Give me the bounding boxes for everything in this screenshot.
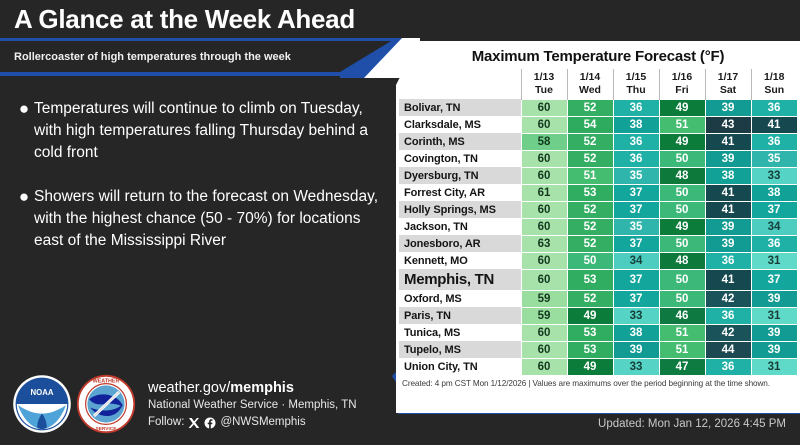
temperature-cell: 37 [613,269,659,290]
temperature-cell: 35 [751,150,797,167]
temperature-cell: 51 [659,116,705,133]
temperature-cell: 34 [613,252,659,269]
city-name: Holly Springs, MS [399,201,521,218]
column-day: Fri [660,84,705,99]
temperature-cell: 60 [521,116,567,133]
temperature-cell: 36 [751,99,797,116]
svg-text:NOAA: NOAA [31,388,54,397]
table-row: Corinth, MS585236494136 [399,133,797,150]
branding-block: NOAA WEATHER SERVICE weather.gov/memphis… [12,374,357,434]
temperature-cell: 31 [751,307,797,324]
temperature-cell: 33 [613,307,659,324]
temperature-cell: 59 [521,290,567,307]
city-column-header [399,69,521,99]
temperature-cell: 38 [613,116,659,133]
svg-text:WEATHER: WEATHER [93,378,120,384]
temperature-cell: 60 [521,150,567,167]
column-date: 1/16 [660,70,705,84]
temperature-cell: 50 [659,201,705,218]
temperature-cell: 60 [521,252,567,269]
temperature-cell: 61 [521,184,567,201]
city-name: Dyersburg, TN [399,167,521,184]
temperature-cell: 60 [521,218,567,235]
column-date: 1/15 [614,70,659,84]
temperature-cell: 63 [521,235,567,252]
list-item: ● Showers will return to the forecast on… [14,186,389,252]
city-name: Jackson, TN [399,218,521,235]
temperature-cell: 51 [659,324,705,341]
temperature-cell: 33 [751,167,797,184]
temperature-cell: 47 [659,358,705,375]
table-row: Holly Springs, MS605237504137 [399,201,797,218]
temperature-cell: 49 [567,307,613,324]
city-name: Bolivar, TN [399,99,521,116]
table-row: Covington, TN605236503935 [399,150,797,167]
column-date: 1/17 [706,70,751,84]
column-header-sat: 1/17Sat [705,69,751,99]
table-row: Kennett, MO605034483631 [399,252,797,269]
temperature-cell: 36 [613,150,659,167]
column-header-sun: 1/18Sun [751,69,797,99]
temperature-cell: 36 [705,307,751,324]
temperature-cell: 53 [567,269,613,290]
city-name: Memphis, TN [399,269,521,290]
updated-timestamp: Updated: Mon Jan 12, 2026 4:45 PM [598,418,786,430]
table-header-row: 1/13Tue1/14Wed1/15Thu1/16Fri1/17Sat1/18S… [399,69,797,99]
temperature-cell: 53 [567,324,613,341]
bullet-text: Showers will return to the forecast on W… [34,186,389,252]
temperature-cell: 37 [613,184,659,201]
temperature-cell: 48 [659,167,705,184]
temperature-cell: 43 [705,116,751,133]
table-row: Jackson, TN605235493934 [399,218,797,235]
city-name: Clarksdale, MS [399,116,521,133]
temperature-cell: 41 [705,269,751,290]
table-row: Tupelo, MS605339514439 [399,341,797,358]
bullet-dot-icon: ● [14,98,34,120]
table-header: 1/13Tue1/14Wed1/15Thu1/16Fri1/17Sat1/18S… [399,69,797,99]
temperature-cell: 36 [751,133,797,150]
temperature-cell: 41 [705,201,751,218]
temperature-cell: 52 [567,235,613,252]
table-footnote: Created: 4 pm CST Mon 1/12/2026 | Values… [396,376,800,388]
temperature-cell: 52 [567,133,613,150]
temperature-cell: 42 [705,324,751,341]
list-item: ● Temperatures will continue to climb on… [14,98,389,164]
temperature-cell: 37 [751,201,797,218]
column-header-fri: 1/16Fri [659,69,705,99]
temperature-cell: 53 [567,341,613,358]
temperature-cell: 59 [521,307,567,324]
temperature-cell: 37 [613,201,659,218]
temperature-cell: 36 [705,252,751,269]
table-row: Clarksdale, MS605438514341 [399,116,797,133]
table-row: Paris, TN594933463631 [399,307,797,324]
column-day: Tue [522,84,567,99]
temperature-cell: 50 [659,269,705,290]
temperature-cell: 49 [659,218,705,235]
temperature-cell: 36 [751,235,797,252]
temperature-cell: 50 [567,252,613,269]
temperature-cell: 60 [521,324,567,341]
branding-text: weather.gov/memphis National Weather Ser… [148,374,357,431]
temperature-cell: 36 [613,99,659,116]
temperature-cell: 41 [705,133,751,150]
page-title: A Glance at the Week Ahead [0,4,355,35]
table-row: Dyersburg, TN605135483833 [399,167,797,184]
infographic-root: A Glance at the Week Ahead Rollercoaster… [0,0,800,445]
temperature-cell: 50 [659,235,705,252]
temperature-cell: 36 [613,133,659,150]
temperature-cell: 50 [659,150,705,167]
bullet-text: Temperatures will continue to climb on T… [34,98,389,164]
temperature-cell: 38 [751,184,797,201]
column-date: 1/18 [752,70,798,84]
subtitle-divider [0,72,395,76]
temperature-cell: 42 [705,290,751,307]
title-bar: A Glance at the Week Ahead [0,0,470,38]
temperature-cell: 49 [659,133,705,150]
temperature-cell: 37 [613,235,659,252]
subtitle: Rollercoaster of high temperatures throu… [0,51,291,63]
city-name: Corinth, MS [399,133,521,150]
bullet-dot-icon: ● [14,186,34,208]
nws-logo: WEATHER SERVICE [76,374,136,434]
noaa-logo: NOAA [12,374,72,434]
city-name: Oxford, MS [399,290,521,307]
city-name: Tunica, MS [399,324,521,341]
table-row: Jonesboro, AR635237503936 [399,235,797,252]
table-row: Union City, TN604933473631 [399,358,797,375]
temperature-cell: 54 [567,116,613,133]
column-day: Thu [614,84,659,99]
website-url-prefix: weather.gov/ [148,380,230,396]
temperature-cell: 39 [751,290,797,307]
temperature-cell: 33 [613,358,659,375]
temperature-cell: 36 [705,358,751,375]
forecast-card: Maximum Temperature Forecast (°F) 1/13Tu… [396,41,800,413]
table-row: Oxford, MS595237504239 [399,290,797,307]
follow-row: Follow: @NWSMemphis [148,414,357,431]
temperature-cell: 60 [521,201,567,218]
temperature-cell: 35 [613,167,659,184]
temperature-cell: 52 [567,99,613,116]
table-row: Bolivar, TN605236493936 [399,99,797,116]
temperature-cell: 39 [613,341,659,358]
temperature-cell: 34 [751,218,797,235]
city-name: Forrest City, AR [399,184,521,201]
temperature-cell: 41 [705,184,751,201]
temperature-cell: 60 [521,269,567,290]
column-header-tue: 1/13Tue [521,69,567,99]
table-row: Forrest City, AR615337504138 [399,184,797,201]
follow-label: Follow: [148,414,184,431]
column-header-thu: 1/15Thu [613,69,659,99]
temperature-cell: 48 [659,252,705,269]
temperature-cell: 44 [705,341,751,358]
temperature-cell: 31 [751,252,797,269]
website-url-office: memphis [230,380,294,396]
city-name: Union City, TN [399,358,521,375]
temperature-cell: 41 [751,116,797,133]
temperature-cell: 31 [751,358,797,375]
temperature-cell: 37 [613,290,659,307]
temperature-cell: 39 [751,341,797,358]
temperature-cell: 60 [521,341,567,358]
temperature-cell: 52 [567,290,613,307]
column-day: Sun [752,84,798,99]
temperature-cell: 39 [705,235,751,252]
facebook-icon[interactable] [204,417,216,429]
temperature-cell: 50 [659,290,705,307]
temperature-cell: 46 [659,307,705,324]
temperature-cell: 53 [567,184,613,201]
bullet-list: ● Temperatures will continue to climb on… [14,98,389,274]
city-name: Paris, TN [399,307,521,324]
temperature-cell: 38 [705,167,751,184]
temperature-cell: 38 [613,324,659,341]
table-row: Tunica, MS605338514239 [399,324,797,341]
city-name: Covington, TN [399,150,521,167]
x-twitter-icon[interactable] [188,417,200,429]
temperature-cell: 52 [567,218,613,235]
temperature-cell: 49 [659,99,705,116]
city-name: Tupelo, MS [399,341,521,358]
column-header-wed: 1/14Wed [567,69,613,99]
table-row: Memphis, TN605337504137 [399,269,797,290]
temperature-cell: 39 [705,150,751,167]
temperature-cell: 52 [567,150,613,167]
column-day: Sat [706,84,751,99]
temperature-cell: 58 [521,133,567,150]
temperature-cell: 49 [567,358,613,375]
city-name: Kennett, MO [399,252,521,269]
city-name: Jonesboro, AR [399,235,521,252]
website-url[interactable]: weather.gov/memphis [148,379,357,397]
temperature-cell: 52 [567,201,613,218]
temperature-cell: 37 [751,269,797,290]
office-name: National Weather Service · Memphis, TN [148,397,357,414]
table-body: Bolivar, TN605236493936Clarksdale, MS605… [399,99,797,375]
column-date: 1/13 [522,70,567,84]
svg-text:SERVICE: SERVICE [96,426,118,432]
forecast-table: 1/13Tue1/14Wed1/15Thu1/16Fri1/17Sat1/18S… [399,69,798,376]
column-day: Wed [568,84,613,99]
temperature-cell: 60 [521,358,567,375]
social-handle[interactable]: @NWSMemphis [220,414,305,431]
temperature-cell: 35 [613,218,659,235]
column-date: 1/14 [568,70,613,84]
temperature-cell: 51 [659,341,705,358]
temperature-cell: 51 [567,167,613,184]
temperature-cell: 60 [521,99,567,116]
table-title: Maximum Temperature Forecast (°F) [396,41,800,65]
temperature-cell: 50 [659,184,705,201]
temperature-cell: 60 [521,167,567,184]
temperature-cell: 39 [751,324,797,341]
temperature-cell: 39 [705,218,751,235]
temperature-cell: 39 [705,99,751,116]
